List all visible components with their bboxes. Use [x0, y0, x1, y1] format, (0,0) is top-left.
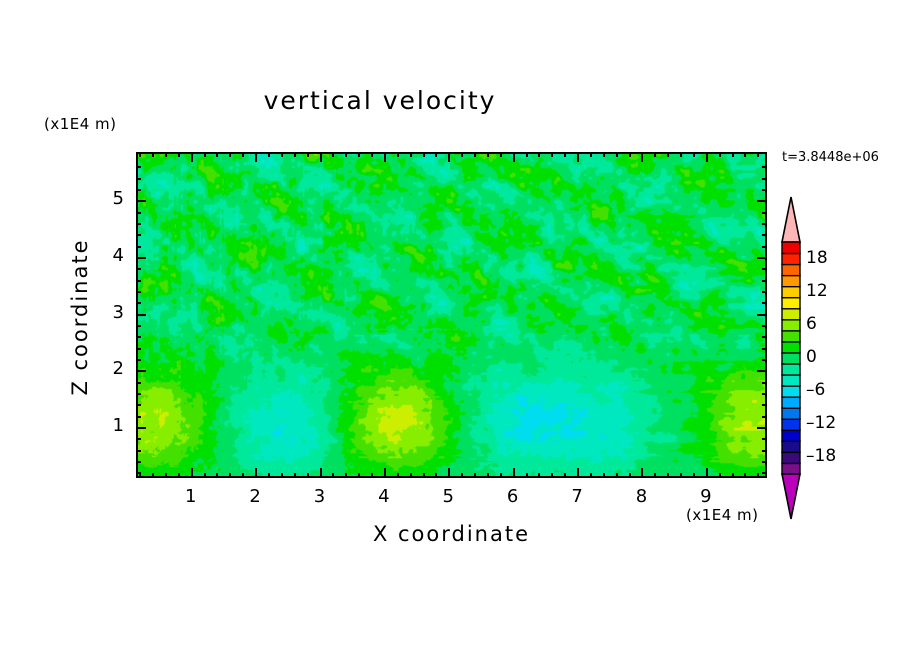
x-tick-top [384, 152, 386, 162]
x-tick-top [255, 152, 257, 162]
colorbar-band [782, 297, 800, 309]
x-tick-bottom [423, 473, 425, 478]
x-tick-bottom [603, 473, 605, 478]
x-tick-bottom [513, 468, 515, 478]
x-tick-bottom [680, 473, 682, 478]
x-tick-bottom [397, 473, 399, 478]
z-tick-left [136, 200, 146, 202]
x-tick-bottom [693, 473, 695, 478]
x-tick-bottom [732, 473, 734, 478]
z-tick-left [136, 359, 141, 361]
x-tick-top [242, 152, 244, 157]
z-tick-left [136, 246, 141, 248]
z-tick-right [762, 404, 767, 406]
x-tick-bottom [178, 473, 180, 478]
z-tick-right [757, 427, 767, 429]
x-tick-bottom [641, 468, 643, 478]
x-tick-bottom [500, 473, 502, 478]
x-tick-top [603, 152, 605, 157]
z-tick-left [136, 438, 141, 440]
x-tick-top [191, 152, 193, 162]
x-tick-bottom [255, 468, 257, 478]
x-tick-bottom [268, 473, 270, 478]
x-tick-label: 1 [171, 486, 211, 507]
x-tick-top [693, 152, 695, 157]
x-tick-bottom [345, 473, 347, 478]
x-tick-bottom [358, 473, 360, 478]
x-tick-top [719, 152, 721, 157]
x-tick-top [332, 152, 334, 157]
z-tick-left [136, 189, 141, 191]
colorbar-tick-label: 6 [806, 314, 817, 334]
x-tick-top [500, 152, 502, 157]
x-tick-top [435, 152, 437, 157]
x-axis-title: X coordinate [136, 522, 767, 546]
x-tick-bottom [242, 473, 244, 478]
colorbar-band [782, 352, 800, 364]
colorbar-band [782, 253, 800, 265]
z-tick-right [762, 450, 767, 452]
x-tick-bottom [384, 468, 386, 478]
x-tick-top [732, 152, 734, 157]
colorbar-tick-label: –18 [806, 446, 836, 466]
x-tick-top [410, 152, 412, 157]
z-tick-right [757, 314, 767, 316]
z-tick-left [136, 427, 146, 429]
colorbar-tick-label: 0 [806, 347, 817, 367]
x-tick-label: 8 [621, 486, 661, 507]
x-tick-bottom [526, 473, 528, 478]
z-tick-label: 4 [84, 245, 124, 266]
colorbar-band [782, 364, 800, 376]
x-tick-top [551, 152, 553, 157]
z-tick-left [136, 223, 141, 225]
x-tick-top [204, 152, 206, 157]
x-tick-bottom [487, 473, 489, 478]
colorbar-band [782, 275, 800, 287]
z-tick-left [136, 348, 141, 350]
x-tick-bottom [564, 473, 566, 478]
colorbar-tick-label: –12 [806, 413, 836, 433]
z-tick-left [136, 280, 141, 282]
x-tick-label: 6 [493, 486, 533, 507]
x-tick-bottom [461, 473, 463, 478]
z-tick-right [762, 166, 767, 168]
x-tick-bottom [474, 473, 476, 478]
colorbar-band [782, 397, 800, 409]
x-tick-bottom [551, 473, 553, 478]
x-tick-top [320, 152, 322, 162]
colorbar-band [782, 375, 800, 387]
z-tick-right [762, 234, 767, 236]
z-tick-left [136, 212, 141, 214]
x-tick-top [178, 152, 180, 157]
x-tick-top [654, 152, 656, 157]
x-tick-bottom [320, 468, 322, 478]
x-tick-bottom [165, 473, 167, 478]
x-tick-bottom [191, 468, 193, 478]
z-tick-right [762, 212, 767, 214]
y-axis-unit-label: (x1E4 m) [44, 115, 117, 133]
z-tick-label: 2 [84, 358, 124, 379]
z-tick-right [762, 268, 767, 270]
colorbar-band [782, 341, 800, 353]
x-tick-top [268, 152, 270, 157]
x-tick-bottom [590, 473, 592, 478]
x-tick-bottom [719, 473, 721, 478]
z-tick-right [762, 189, 767, 191]
x-tick-top [487, 152, 489, 157]
z-tick-right [762, 336, 767, 338]
x-tick-top [538, 152, 540, 157]
z-tick-right [762, 416, 767, 418]
x-tick-top [706, 152, 708, 162]
z-tick-right [762, 246, 767, 248]
z-tick-left [136, 268, 141, 270]
x-tick-bottom [332, 473, 334, 478]
z-tick-left [136, 314, 146, 316]
x-tick-top [564, 152, 566, 157]
z-tick-right [757, 200, 767, 202]
x-tick-top [461, 152, 463, 157]
x-tick-top [371, 152, 373, 157]
z-tick-left [136, 178, 141, 180]
colorbar-under-range-cap [782, 474, 800, 519]
colorbar [778, 196, 804, 520]
colorbar-band [782, 419, 800, 431]
colorbar-band [782, 452, 800, 464]
contour-field-canvas [138, 154, 765, 476]
z-tick-left [136, 393, 141, 395]
x-tick-top [641, 152, 643, 162]
x-tick-bottom [307, 473, 309, 478]
z-tick-left [136, 450, 141, 452]
z-tick-right [762, 302, 767, 304]
z-tick-right [762, 280, 767, 282]
colorbar-tick-label: –6 [806, 380, 825, 400]
x-tick-bottom [448, 468, 450, 478]
z-tick-left [136, 370, 146, 372]
colorbar-band [782, 441, 800, 453]
z-tick-left [136, 325, 141, 327]
time-stamp-label: t=3.8448e+06 [782, 150, 879, 165]
z-tick-label: 3 [84, 302, 124, 323]
x-tick-bottom [629, 473, 631, 478]
x-tick-bottom [744, 473, 746, 478]
z-tick-right [762, 438, 767, 440]
colorbar-band [782, 286, 800, 298]
x-tick-bottom [616, 473, 618, 478]
colorbar-band [782, 319, 800, 331]
x-tick-top [423, 152, 425, 157]
x-tick-bottom [229, 473, 231, 478]
x-tick-top [345, 152, 347, 157]
x-tick-top [526, 152, 528, 157]
colorbar-band [782, 463, 800, 475]
x-tick-top [307, 152, 309, 157]
contour-plot-area [136, 152, 767, 478]
colorbar-band [782, 330, 800, 342]
z-tick-right [762, 178, 767, 180]
x-tick-top [229, 152, 231, 157]
x-tick-label: 7 [557, 486, 597, 507]
colorbar-tick-label: 12 [806, 281, 828, 301]
z-tick-right [762, 291, 767, 293]
x-tick-top [397, 152, 399, 157]
z-tick-left [136, 472, 141, 474]
x-tick-top [358, 152, 360, 157]
x-tick-bottom [577, 468, 579, 478]
x-tick-bottom [706, 468, 708, 478]
z-tick-label: 5 [84, 188, 124, 209]
x-tick-top [216, 152, 218, 157]
x-tick-bottom [294, 473, 296, 478]
x-tick-top [165, 152, 167, 157]
x-tick-label: 4 [364, 486, 404, 507]
colorbar-band [782, 308, 800, 320]
x-tick-label: 3 [300, 486, 340, 507]
x-tick-top [680, 152, 682, 157]
x-tick-bottom [538, 473, 540, 478]
x-tick-top [294, 152, 296, 157]
x-tick-top [139, 152, 141, 157]
colorbar-band [782, 264, 800, 276]
x-tick-top [448, 152, 450, 162]
x-tick-bottom [152, 473, 154, 478]
x-tick-bottom [204, 473, 206, 478]
z-tick-right [762, 359, 767, 361]
x-tick-label: 9 [686, 486, 726, 507]
z-tick-left [136, 336, 141, 338]
colorbar-band [782, 408, 800, 420]
x-tick-label: 5 [428, 486, 468, 507]
x-tick-top [281, 152, 283, 157]
z-tick-left [136, 404, 141, 406]
z-tick-left [136, 302, 141, 304]
z-tick-left [136, 291, 141, 293]
z-tick-right [762, 472, 767, 474]
z-tick-right [762, 461, 767, 463]
colorbar-band [782, 386, 800, 398]
x-tick-bottom [281, 473, 283, 478]
z-tick-left [136, 166, 141, 168]
z-tick-right [762, 325, 767, 327]
colorbar-band [782, 242, 800, 254]
z-tick-left [136, 416, 141, 418]
x-tick-bottom [757, 473, 759, 478]
x-tick-top [629, 152, 631, 157]
z-tick-right [762, 382, 767, 384]
x-tick-label: 2 [235, 486, 275, 507]
colorbar-band [782, 430, 800, 442]
z-tick-right [757, 370, 767, 372]
x-tick-top [744, 152, 746, 157]
x-tick-top [577, 152, 579, 162]
x-tick-top [513, 152, 515, 162]
z-tick-right [762, 393, 767, 395]
z-tick-right [757, 257, 767, 259]
z-tick-right [762, 223, 767, 225]
colorbar-tick-label: 18 [806, 248, 828, 268]
z-tick-right [762, 348, 767, 350]
x-tick-bottom [654, 473, 656, 478]
page-title: vertical velocity [0, 86, 760, 115]
z-tick-left [136, 382, 141, 384]
z-tick-left [136, 234, 141, 236]
x-tick-top [616, 152, 618, 157]
z-tick-left [136, 257, 146, 259]
x-tick-bottom [410, 473, 412, 478]
x-tick-bottom [667, 473, 669, 478]
x-tick-bottom [371, 473, 373, 478]
x-tick-top [590, 152, 592, 157]
x-tick-bottom [216, 473, 218, 478]
z-tick-left [136, 461, 141, 463]
x-tick-top [152, 152, 154, 157]
x-tick-top [667, 152, 669, 157]
x-tick-bottom [435, 473, 437, 478]
x-tick-top [757, 152, 759, 157]
colorbar-over-range-cap [782, 197, 800, 242]
z-tick-label: 1 [84, 415, 124, 436]
x-tick-top [474, 152, 476, 157]
